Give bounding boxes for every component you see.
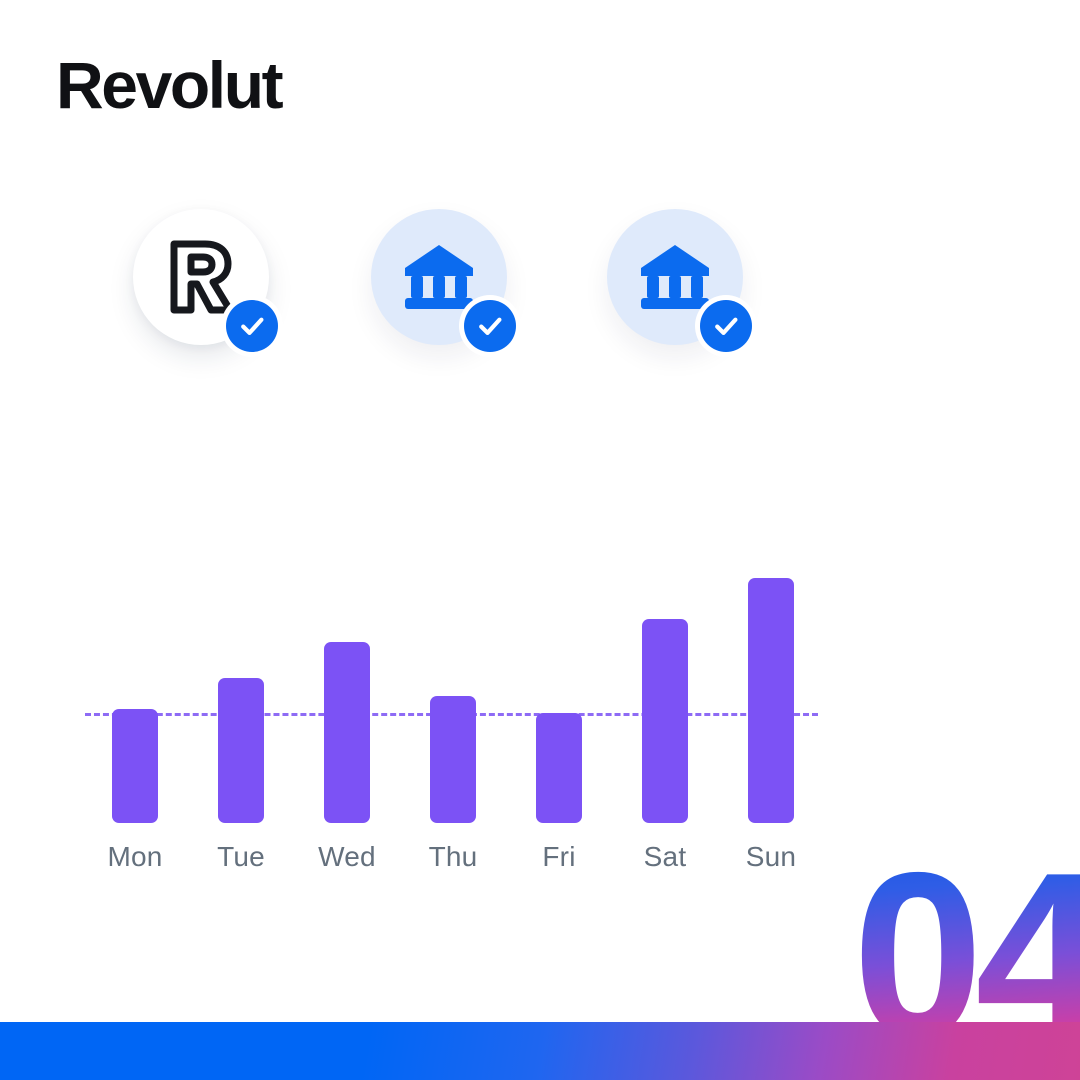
- x-axis-label-tue: Tue: [181, 841, 301, 873]
- check-icon: [475, 311, 505, 341]
- verified-badge-circle: [700, 300, 752, 352]
- revolut-wordmark: Revolut: [56, 52, 281, 118]
- verified-badge-circle: [464, 300, 516, 352]
- bottom-gradient-bar: [0, 1022, 1080, 1080]
- check-icon: [711, 311, 741, 341]
- verified-badge: [459, 295, 521, 357]
- revolut-r-icon: [164, 238, 238, 316]
- x-axis-label-sat: Sat: [605, 841, 725, 873]
- verified-badge: [221, 295, 283, 357]
- bar-thu[interactable]: [430, 696, 476, 823]
- account-avatar-bank-1[interactable]: [371, 209, 507, 345]
- bar-wed[interactable]: [324, 642, 370, 823]
- x-axis-label-mon: Mon: [75, 841, 195, 873]
- x-axis-label-fri: Fri: [499, 841, 619, 873]
- account-avatar-bank-2[interactable]: [607, 209, 743, 345]
- x-axis-label-wed: Wed: [287, 841, 407, 873]
- bar-mon[interactable]: [112, 709, 158, 823]
- bank-icon: [638, 243, 712, 311]
- chart-plot-area: [85, 555, 825, 823]
- bar-tue[interactable]: [218, 678, 264, 823]
- slide-canvas: Revolut: [0, 0, 1080, 1080]
- bar-sun[interactable]: [748, 578, 794, 823]
- x-axis-label-sun: Sun: [711, 841, 831, 873]
- check-icon: [237, 311, 267, 341]
- account-avatar-revolut[interactable]: [133, 209, 269, 345]
- bar-sat[interactable]: [642, 619, 688, 823]
- bank-icon: [402, 243, 476, 311]
- verified-badge: [695, 295, 757, 357]
- weekly-spending-chart: MonTueWedThuFriSatSun: [85, 555, 825, 885]
- connected-accounts-row: [133, 209, 813, 389]
- verified-badge-circle: [226, 300, 278, 352]
- bar-fri[interactable]: [536, 713, 582, 823]
- x-axis-label-thu: Thu: [393, 841, 513, 873]
